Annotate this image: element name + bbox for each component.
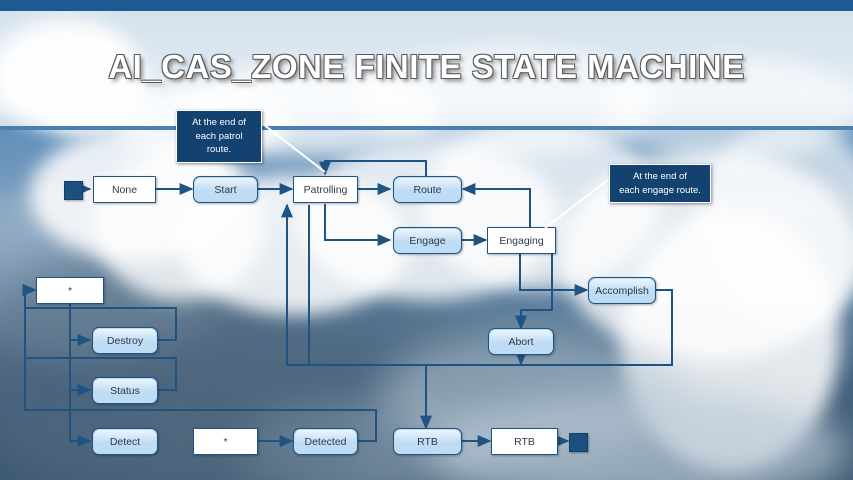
node-label: Accomplish [595, 285, 649, 297]
callout-line-2: each engage route. [618, 184, 702, 198]
state-node-rtb-trigger[interactable]: RTB [393, 428, 462, 455]
end-terminator [569, 433, 588, 452]
node-label: Abort [508, 336, 533, 348]
node-label: Destroy [107, 335, 143, 347]
state-node-accomplish[interactable]: Accomplish [588, 277, 656, 304]
node-label: Route [413, 184, 441, 196]
node-label: * [223, 436, 227, 448]
callout-line-1: At the end of [618, 170, 702, 184]
state-node-engaging[interactable]: Engaging [487, 227, 556, 254]
callout-line-2: each patrol route. [185, 130, 253, 157]
node-label: RTB [514, 436, 535, 448]
start-terminator [64, 181, 83, 200]
node-label: Status [110, 385, 140, 397]
node-label: Engage [409, 235, 445, 247]
presentation-slide: AI_CAS_ZONE FINITE STATE MACHINE [0, 0, 853, 480]
node-label: Patrolling [304, 184, 348, 196]
state-node-destroy[interactable]: Destroy [92, 327, 158, 354]
node-label: RTB [417, 436, 438, 448]
state-node-none[interactable]: None [93, 176, 156, 203]
state-node-route[interactable]: Route [393, 176, 462, 203]
node-label: * [68, 285, 72, 297]
state-node-any-bottom[interactable]: * [193, 428, 258, 455]
state-node-engage[interactable]: Engage [393, 227, 462, 254]
state-node-abort[interactable]: Abort [488, 328, 554, 355]
node-label: None [112, 184, 137, 196]
state-node-rtb-state[interactable]: RTB [491, 428, 558, 455]
callout-patrol-route: At the end of each patrol route. [176, 110, 262, 163]
state-node-patrolling[interactable]: Patrolling [293, 176, 358, 203]
state-node-detect[interactable]: Detect [92, 428, 158, 455]
callout-engage-route: At the end of each engage route. [609, 164, 711, 203]
callout-line-1: At the end of [185, 116, 253, 130]
node-label: Detected [304, 436, 346, 448]
state-node-any-left[interactable]: * [36, 277, 104, 304]
node-label: Detect [110, 436, 140, 448]
state-node-detected[interactable]: Detected [293, 428, 358, 455]
state-machine-diagram: None Start Patrolling Route Engage Engag… [0, 0, 853, 480]
state-node-status[interactable]: Status [92, 377, 158, 404]
node-label: Engaging [499, 235, 543, 247]
state-node-start[interactable]: Start [193, 176, 258, 203]
node-label: Start [214, 184, 236, 196]
